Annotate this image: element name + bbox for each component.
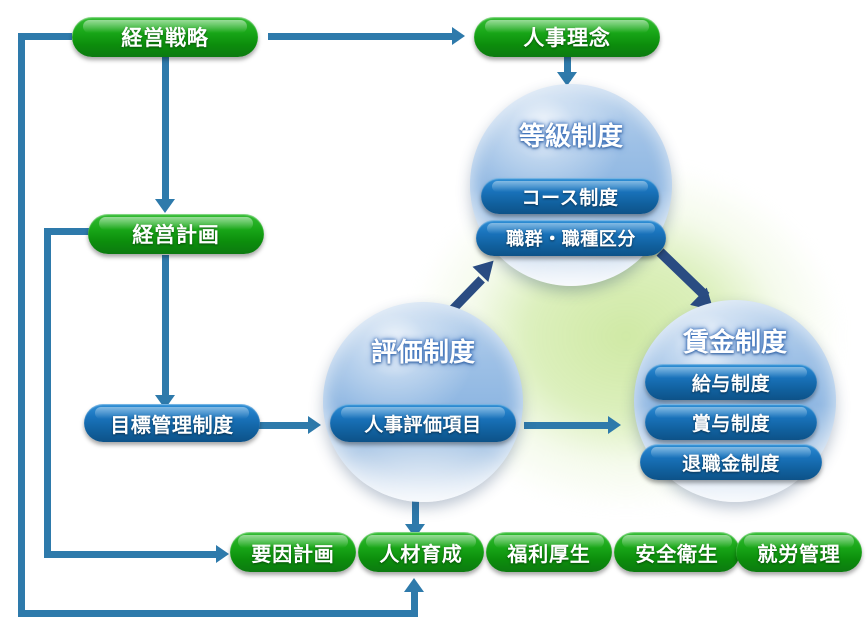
- pill-bonus-system-label: 賞与制度: [692, 409, 770, 436]
- loop-outer-vertical-left: [18, 33, 25, 617]
- pill-job-group-classification[interactable]: 職群・職種区分: [476, 220, 666, 256]
- pill-course-system[interactable]: コース制度: [481, 178, 659, 214]
- node-hr-philosophy-label: 人事理念: [523, 22, 610, 52]
- node-mbo-system[interactable]: 目標管理制度: [84, 404, 260, 442]
- node-hr-development[interactable]: 人材育成: [358, 532, 484, 572]
- node-workforce-plan-label: 要因計画: [251, 538, 334, 567]
- sphere-evaluation-system[interactable]: 評価制度: [323, 302, 523, 502]
- connector-strategy-to-philosophy: [268, 33, 454, 40]
- node-management-strategy-label: 経営戦略: [121, 22, 208, 52]
- arrowhead-strategy-to-philosophy: [452, 27, 465, 45]
- connector-mbo-to-evaluation: [259, 422, 311, 429]
- sphere-evaluation-title: 評価制度: [323, 332, 523, 369]
- arrowhead-strategy-to-plan: [155, 199, 175, 213]
- node-welfare-benefits[interactable]: 福利厚生: [486, 532, 612, 572]
- node-hr-philosophy[interactable]: 人事理念: [474, 17, 660, 57]
- pill-evaluation-items[interactable]: 人事評価項目: [330, 404, 516, 442]
- loop-outer-stub-from-strategy: [18, 33, 72, 40]
- loop-inner-horizontal: [44, 551, 220, 558]
- node-management-plan[interactable]: 経営計画: [88, 214, 264, 254]
- connector-evaluation-to-wage: [524, 422, 612, 429]
- sphere-grade-title: 等級制度: [470, 116, 672, 153]
- connector-strategy-to-plan: [162, 57, 169, 205]
- pill-retirement-allowance-system[interactable]: 退職金制度: [640, 444, 822, 480]
- node-safety-health[interactable]: 安全衛生: [614, 532, 740, 572]
- node-hr-development-label: 人材育成: [379, 538, 462, 567]
- pill-course-system-label: コース制度: [522, 183, 619, 210]
- node-welfare-benefits-label: 福利厚生: [507, 538, 590, 567]
- node-safety-health-label: 安全衛生: [635, 538, 718, 567]
- loop-inner-stub-from-plan: [44, 228, 94, 235]
- loop-outer-vertical-right: [411, 590, 418, 617]
- loop-inner-vertical: [44, 228, 51, 555]
- diagram-canvas: 等級制度 コース制度 職群・職種区分 評価制度 人事評価項目 賃金制度 給与制度…: [0, 0, 868, 640]
- node-management-plan-label: 経営計画: [132, 219, 219, 249]
- sphere-wage-title: 賃金制度: [634, 322, 836, 359]
- arrowhead-loop-outer-to-hrdev: [404, 578, 424, 592]
- pill-salary-system-label: 給与制度: [692, 369, 770, 396]
- node-labor-management[interactable]: 就労管理: [736, 532, 862, 572]
- node-workforce-plan[interactable]: 要因計画: [230, 532, 356, 572]
- node-mbo-system-label: 目標管理制度: [110, 409, 234, 438]
- pill-retirement-allowance-system-label: 退職金制度: [682, 449, 780, 476]
- node-labor-management-label: 就労管理: [757, 538, 840, 567]
- arrowhead-evaluation-to-wage: [608, 416, 621, 434]
- node-management-strategy[interactable]: 経営戦略: [72, 17, 258, 57]
- pill-salary-system[interactable]: 給与制度: [645, 364, 817, 400]
- arrowhead-mbo-to-evaluation: [308, 416, 321, 434]
- pill-bonus-system[interactable]: 賞与制度: [645, 404, 817, 440]
- arrowhead-loop-inner-to-yoin: [216, 545, 229, 563]
- pill-evaluation-items-label: 人事評価項目: [364, 410, 481, 437]
- loop-outer-horizontal-bottom: [18, 610, 418, 617]
- pill-job-group-classification-label: 職群・職種区分: [506, 225, 636, 251]
- connector-plan-to-mbo: [162, 255, 169, 401]
